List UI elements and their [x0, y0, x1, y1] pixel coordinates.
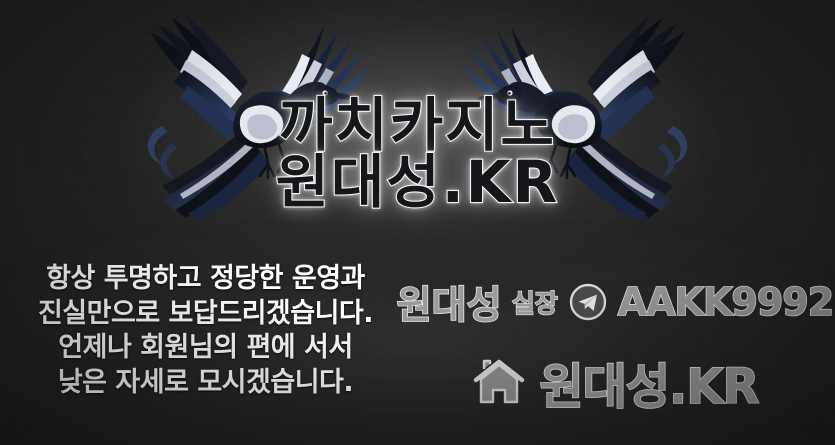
manager-role: 실장: [512, 284, 558, 320]
slogan-line-1: 항상 투명하고 정당한 운영과: [16, 262, 395, 297]
manager-name: 원대성: [397, 274, 502, 329]
casino-promo-banner: 까치카지노 원대성.KR 항상 투명하고 정당한 운영과 진실만으로 보답드리겠…: [0, 0, 835, 445]
slogan-line-2: 진실만으로 보답드리겠습니다.: [16, 297, 395, 332]
telegram-handle[interactable]: AAKK9992: [618, 280, 833, 324]
telegram-contact-row[interactable]: 원대성 실장 AAKK9992: [395, 274, 835, 329]
contact-block: 원대성 실장 AAKK9992 원대성.KR: [395, 262, 835, 417]
home-icon[interactable]: [472, 357, 526, 407]
lower-section: 항상 투명하고 정당한 운영과 진실만으로 보답드리겠습니다. 언제나 회원님의…: [0, 262, 835, 445]
telegram-icon[interactable]: [568, 282, 608, 322]
slogan-line-3: 언제나 회원님의 편에 서서: [16, 331, 395, 366]
slogan-line-4: 낮은 자세로 모시겠습니다.: [16, 366, 395, 401]
site-domain[interactable]: 원대성.KR: [540, 347, 759, 417]
website-row[interactable]: 원대성.KR: [395, 347, 835, 417]
slogan-block: 항상 투명하고 정당한 운영과 진실만으로 보답드리겠습니다. 언제나 회원님의…: [0, 262, 395, 400]
